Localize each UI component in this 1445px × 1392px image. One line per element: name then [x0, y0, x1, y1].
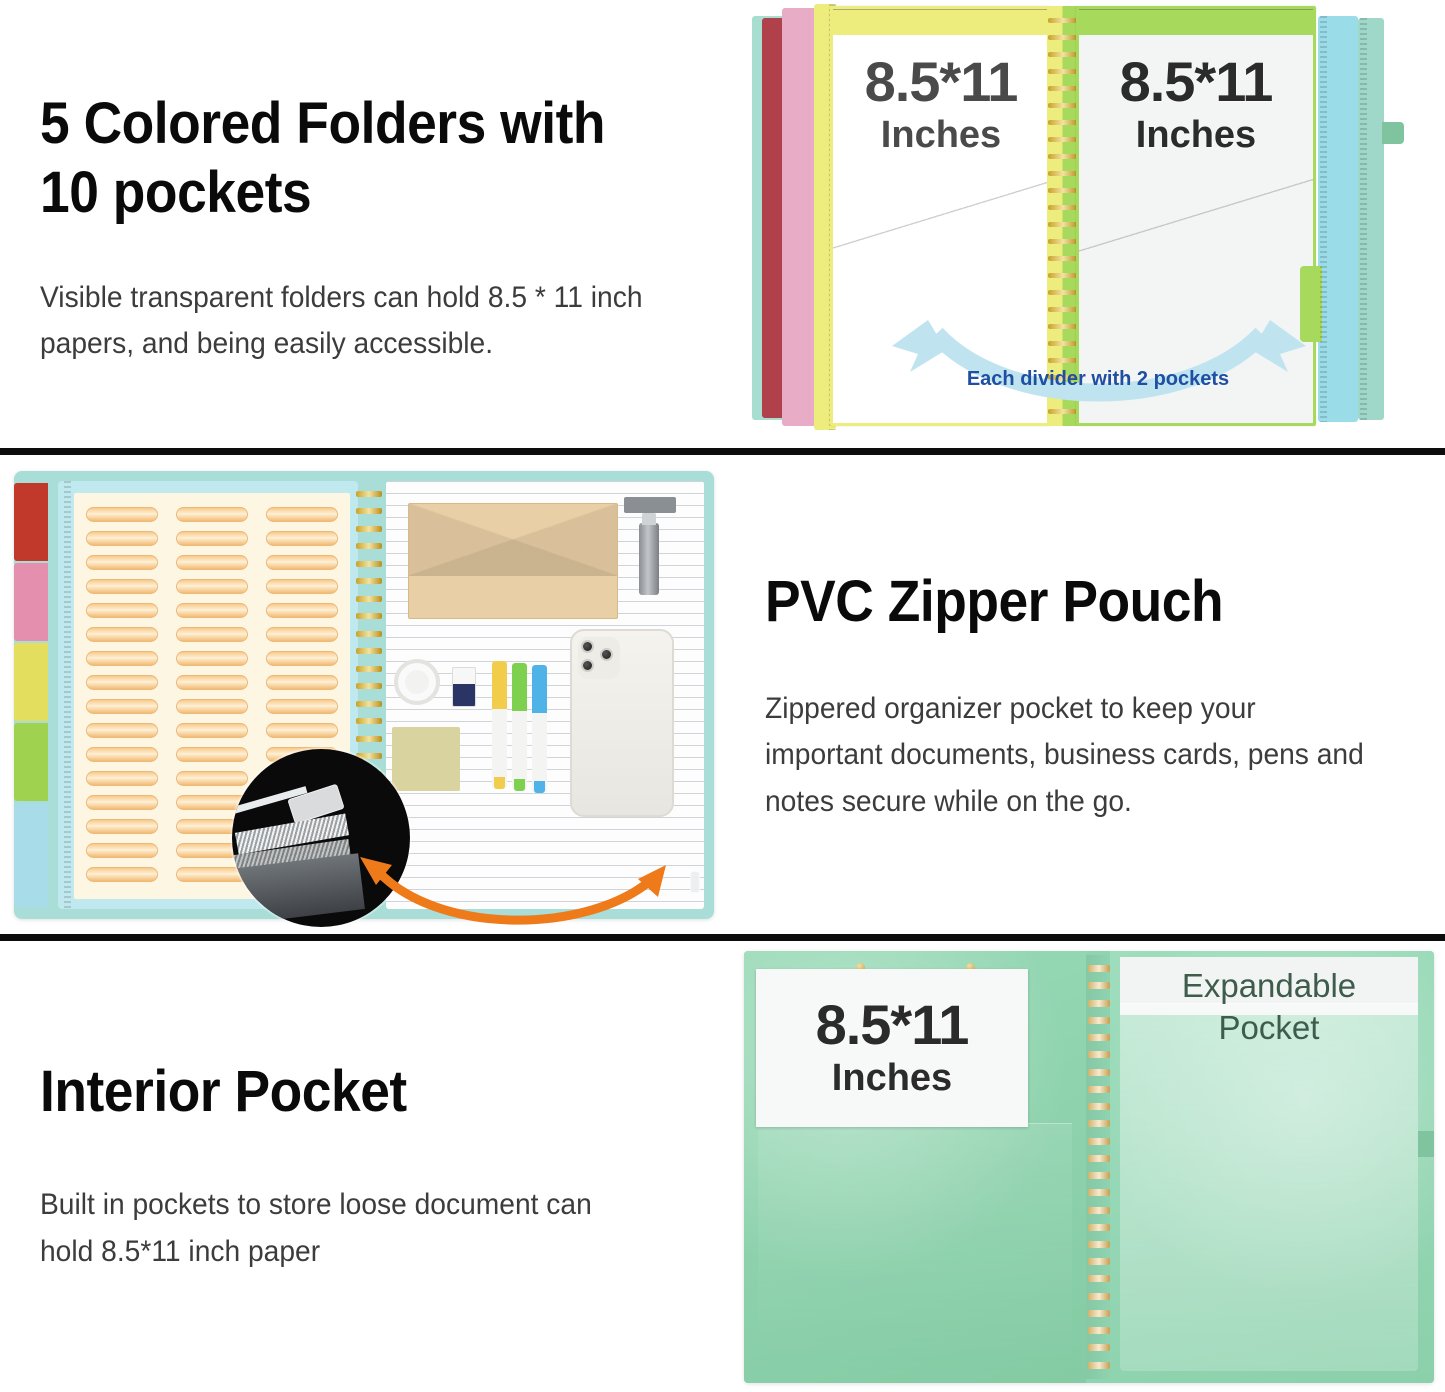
- spiral-coil: [1088, 1086, 1110, 1093]
- label-sticker: [266, 699, 338, 714]
- spiral-coil: [1088, 1051, 1110, 1058]
- spiral-coil: [1048, 239, 1078, 244]
- camera-lens: [581, 640, 594, 653]
- spiral-coil: [1088, 1138, 1110, 1145]
- phone-camera-module: [578, 637, 620, 679]
- label-sticker: [86, 867, 158, 882]
- label-sticker: [176, 747, 248, 762]
- paper-size-label: 8.5*11 Inches: [756, 997, 1028, 1097]
- label-sticker: [86, 819, 158, 834]
- spiral-coil: [1088, 1120, 1110, 1127]
- right-page-size-value: 8.5*11: [1080, 54, 1312, 110]
- spiral-coil: [1088, 1224, 1110, 1231]
- expandable-pocket-label-line1: Expandable: [1182, 967, 1356, 1004]
- label-sticker: [266, 579, 338, 594]
- spiral-coil: [1088, 1362, 1110, 1369]
- paper-size-value: 8.5*11: [756, 997, 1028, 1053]
- spiral-coil: [1088, 1327, 1110, 1334]
- label-sticker: [266, 651, 338, 666]
- open-organizer-illustration: [14, 471, 714, 919]
- folder-right-page-top-band: [1079, 9, 1313, 35]
- label-sticker: [266, 675, 338, 690]
- label-sticker: [176, 555, 248, 570]
- zipper-callout-arrow: [314, 851, 714, 931]
- spiral-coil: [356, 578, 382, 584]
- label-sticker: [266, 507, 338, 522]
- label-sticker: [86, 555, 158, 570]
- spiral-coil: [1048, 222, 1078, 227]
- label-sticker: [176, 675, 248, 690]
- eraser-icon: [452, 667, 476, 707]
- spiral-coil: [356, 543, 382, 549]
- expandable-pocket: [1120, 1003, 1418, 1371]
- spiral-coil: [1048, 18, 1078, 23]
- spiral-coil: [1088, 1275, 1110, 1282]
- spiral-coil: [1088, 1069, 1110, 1076]
- cover-pen-loop-elastic: [1418, 1131, 1434, 1157]
- label-sticker: [176, 651, 248, 666]
- spiral-coil: [1048, 171, 1078, 176]
- divider-tab-pink: [14, 563, 48, 641]
- label-sticker: [176, 699, 248, 714]
- inserted-paper-sheet: 8.5*11 Inches: [756, 969, 1028, 1127]
- spiral-coil: [1048, 273, 1078, 278]
- folder-edge-ruler-blue: [1320, 16, 1327, 422]
- label-sticker: [86, 771, 158, 786]
- label-sticker: [86, 627, 158, 642]
- spiral-coil: [1048, 154, 1078, 159]
- camera-lens: [581, 659, 594, 672]
- spiral-coil: [1088, 1000, 1110, 1007]
- spiral-coil: [1048, 103, 1078, 108]
- folder-right-page-size-label: 8.5*11 Inches: [1080, 54, 1312, 154]
- spiral-coil: [356, 613, 382, 619]
- spiral-coil: [1048, 86, 1078, 91]
- kraft-envelope-icon: [408, 503, 618, 619]
- folder-left-page-size-label: 8.5*11 Inches: [834, 54, 1048, 154]
- label-sticker: [266, 531, 338, 546]
- feature-panel-colored-folders: 5 Colored Folders with 10 pockets Visibl…: [0, 0, 1445, 452]
- label-sticker: [176, 603, 248, 618]
- spiral-coil: [1088, 1155, 1110, 1162]
- blue-marker-icon: [532, 665, 547, 793]
- yellow-marker-icon: [492, 661, 507, 789]
- label-sticker: [176, 723, 248, 738]
- panel-1-image-column: 8.5*11 Inches: [722, 0, 1445, 452]
- spiral-coil: [356, 683, 382, 689]
- product-infographic-page: 5 Colored Folders with 10 pockets Visibl…: [0, 0, 1445, 1392]
- spiral-coil: [356, 491, 382, 497]
- spiral-coil: [1088, 1034, 1110, 1041]
- label-sticker: [86, 795, 158, 810]
- spiral-coil: [356, 526, 382, 532]
- spiral-coil: [356, 508, 382, 514]
- usb-flash-drive-icon: [639, 523, 659, 595]
- spiral-coil: [356, 596, 382, 602]
- panel-3-description: Built in pockets to store loose document…: [40, 1182, 643, 1275]
- label-sticker: [86, 579, 158, 594]
- label-sticker: [86, 699, 158, 714]
- smartphone-icon: [570, 629, 674, 817]
- spiral-coil: [1048, 120, 1078, 125]
- interior-pocket-left: [758, 1123, 1072, 1375]
- spiral-coil: [1088, 1017, 1110, 1024]
- business-card: [624, 497, 676, 513]
- label-sticker: [86, 507, 158, 522]
- spiral-coil: [1048, 137, 1078, 142]
- spiral-coil: [1048, 205, 1078, 210]
- spiral-coil: [1088, 965, 1110, 972]
- panel-2-image-column: [0, 455, 723, 938]
- zipper-pouch-page: [386, 481, 704, 909]
- spiral-coil: [1088, 1172, 1110, 1179]
- cover-spiral-binding: [1086, 955, 1112, 1379]
- spiral-coil: [1048, 35, 1078, 40]
- divider-callout-label: Each divider with 2 pockets: [878, 368, 1318, 391]
- divider-pockets-callout: Each divider with 2 pockets: [878, 316, 1318, 426]
- panel-3-image-column: 8.5*11 Inches: [722, 941, 1445, 1392]
- spiral-coil: [356, 561, 382, 567]
- expandable-pocket-label-line2: Pocket: [1219, 1009, 1320, 1046]
- spiral-coil: [1088, 1189, 1110, 1196]
- section-divider-2: [0, 934, 1445, 941]
- label-sticker: [86, 651, 158, 666]
- panel-3-title: Interior Pocket: [40, 1058, 631, 1126]
- green-marker-icon: [512, 663, 527, 791]
- spiral-coil: [356, 718, 382, 724]
- expandable-pocket-label: Expandable Pocket: [1120, 965, 1418, 1049]
- feature-panel-interior-pocket: Interior Pocket Built in pockets to stor…: [0, 941, 1445, 1392]
- label-sticker: [86, 723, 158, 738]
- label-sticker: [176, 771, 248, 786]
- spiral-coil: [1088, 1207, 1110, 1214]
- camera-lens: [600, 648, 613, 661]
- label-sticker: [86, 531, 158, 546]
- spiral-coil: [1088, 982, 1110, 989]
- sticky-note-pad: [392, 727, 460, 791]
- panel-2-text-column: PVC Zipper Pouch Zippered organizer pock…: [723, 455, 1445, 938]
- spiral-coil: [1048, 69, 1078, 74]
- label-sticker: [266, 723, 338, 738]
- label-sticker: [266, 627, 338, 642]
- label-sticker: [176, 579, 248, 594]
- cover-right-page: Expandable Pocket: [1110, 951, 1434, 1383]
- left-page-size-value: 8.5*11: [834, 54, 1048, 110]
- spiral-coil: [1088, 1258, 1110, 1265]
- curved-double-arrow-orange-icon: [314, 851, 714, 931]
- label-sticker: [86, 675, 158, 690]
- folder-sheet-blue: [1318, 16, 1358, 422]
- panel-2-description: Zippered organizer pocket to keep your i…: [765, 686, 1376, 826]
- spiral-coil: [356, 736, 382, 742]
- right-page-size-unit: Inches: [1080, 116, 1312, 154]
- label-sticker: [266, 603, 338, 618]
- panel-3-text-column: Interior Pocket Built in pockets to stor…: [0, 941, 722, 1392]
- left-page-size-unit: Inches: [834, 116, 1048, 154]
- panel-1-description: Visible transparent folders can hold 8.5…: [40, 275, 643, 368]
- label-sticker: [86, 843, 158, 858]
- panel-1-title: 5 Colored Folders with 10 pockets: [40, 90, 631, 227]
- label-sticker: [176, 507, 248, 522]
- cover-left-page: 8.5*11 Inches: [744, 951, 1086, 1383]
- label-sticker: [176, 531, 248, 546]
- divider-tab-yellow: [14, 643, 48, 721]
- organizer-left-ruler-edge: [64, 481, 71, 909]
- spiral-coil: [1088, 1310, 1110, 1317]
- open-folder-spread-illustration: 8.5*11 Inches: [730, 2, 1430, 432]
- washi-tape-roll-icon: [394, 659, 440, 705]
- section-divider-1: [0, 448, 1445, 455]
- label-sticker: [86, 603, 158, 618]
- spiral-coil: [1048, 290, 1078, 295]
- folder-sheet-teal-front: [1358, 18, 1384, 420]
- spiral-coil: [356, 701, 382, 707]
- panel-2-title: PVC Zipper Pouch: [765, 568, 1363, 636]
- spiral-coil: [1088, 1241, 1110, 1248]
- folder-edge-ruler-teal: [1360, 18, 1367, 420]
- label-sticker: [176, 627, 248, 642]
- divider-tab-red: [14, 483, 48, 561]
- spiral-coil: [1048, 307, 1078, 312]
- label-sticker: [266, 555, 338, 570]
- green-cover-interior-illustration: 8.5*11 Inches: [744, 951, 1434, 1383]
- paper-size-unit: Inches: [756, 1059, 1028, 1097]
- divider-tab-green: [14, 723, 48, 801]
- spiral-coil: [356, 666, 382, 672]
- spiral-coil: [1048, 188, 1078, 193]
- spiral-coil: [1048, 256, 1078, 261]
- spiral-coil: [1088, 1293, 1110, 1300]
- panel-1-text-column: 5 Colored Folders with 10 pockets Visibl…: [0, 0, 722, 452]
- divider-tab-blue: [14, 803, 48, 907]
- label-sticker: [86, 747, 158, 762]
- spiral-coil: [1088, 1103, 1110, 1110]
- folder-left-page-top-band: [833, 9, 1047, 35]
- spiral-coil: [1088, 1344, 1110, 1351]
- spiral-coil: [356, 631, 382, 637]
- pen-loop-elastic: [1382, 122, 1404, 144]
- spiral-coil: [356, 648, 382, 654]
- spiral-coil: [1048, 52, 1078, 57]
- feature-panel-zipper-pouch: PVC Zipper Pouch Zippered organizer pock…: [0, 455, 1445, 938]
